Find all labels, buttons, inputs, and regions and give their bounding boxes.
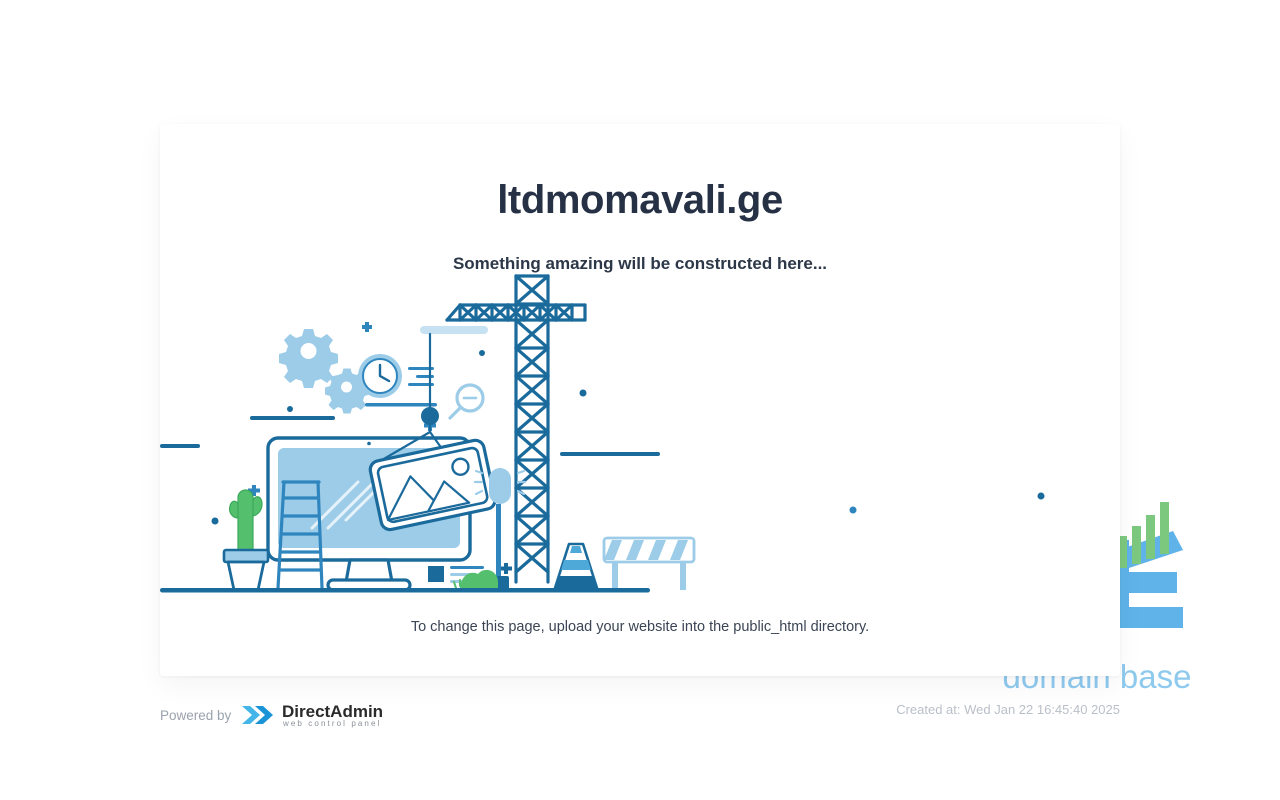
ge-bar-3 [1146, 515, 1155, 559]
main-card: ltdmomavali.ge Something amazing will be… [160, 124, 1120, 676]
page-root: domain base ltdmomavali.ge Something ama… [0, 0, 1280, 800]
magnifier-zoom-out-icon [450, 385, 483, 418]
clock-icon [358, 354, 437, 407]
gears-icon [279, 329, 370, 414]
powered-by-label: Powered by [160, 708, 231, 723]
directadmin-logo[interactable]: DirectAdmin web control panel [240, 701, 422, 729]
crane-counterweight [420, 326, 488, 334]
upload-instructions: To change this page, upload your website… [160, 619, 1120, 635]
traffic-cone [555, 544, 597, 588]
created-at-timestamp: Created at: Wed Jan 22 16:45:40 2025 [896, 702, 1120, 717]
powered-by-block: Powered by DirectAdmin web control panel [160, 701, 422, 729]
page-title: ltdmomavali.ge [160, 176, 1120, 224]
illustration [160, 270, 1120, 600]
cactus-plant [224, 490, 268, 590]
footer: Powered by DirectAdmin web control panel… [160, 690, 1120, 730]
crane-hook-ball [421, 407, 439, 425]
ge-bar-2 [1132, 526, 1141, 564]
bush [454, 570, 498, 590]
directadmin-tagline: web control panel [282, 719, 381, 728]
road-barrier [604, 538, 694, 590]
ge-bar-4 [1160, 502, 1169, 554]
ground-line [160, 588, 650, 593]
directadmin-wordmark: DirectAdmin web control panel [282, 701, 422, 729]
directadmin-chevron-icon [240, 702, 276, 728]
ladder [278, 482, 322, 588]
